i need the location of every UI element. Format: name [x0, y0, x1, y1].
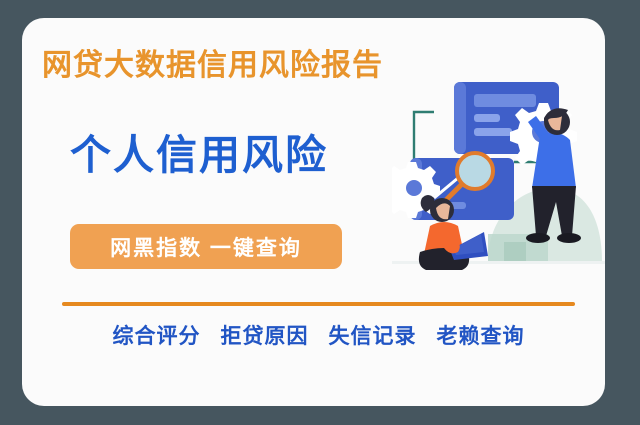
- banner-card: 网贷大数据信用风险报告 个人信用风险 网黑指数 一键查询 综合评分 拒贷原因 失…: [22, 18, 605, 406]
- standing-person-shoe-right: [557, 233, 581, 243]
- feature-item-default-record[interactable]: 失信记录: [329, 320, 417, 350]
- standing-person-shoe-left: [526, 233, 550, 243]
- headline-text: 个人信用风险: [70, 131, 328, 179]
- banner-root: 网贷大数据信用风险报告 个人信用风险 网黑指数 一键查询 综合评分 拒贷原因 失…: [0, 0, 640, 425]
- query-cta-button[interactable]: 网黑指数 一键查询: [70, 224, 342, 269]
- credit-risk-analysis-illustration: [392, 66, 605, 311]
- feature-item-rejection-reason[interactable]: 拒贷原因: [221, 320, 309, 350]
- feature-item-score[interactable]: 综合评分: [113, 320, 201, 350]
- feature-list: 综合评分 拒贷原因 失信记录 老赖查询: [62, 318, 575, 352]
- query-cta-label: 网黑指数 一键查询: [110, 232, 302, 262]
- backdrop-block-2: [504, 242, 526, 262]
- feature-item-debtor-lookup[interactable]: 老赖查询: [437, 320, 525, 350]
- page-title: 网贷大数据信用风险报告: [42, 48, 383, 84]
